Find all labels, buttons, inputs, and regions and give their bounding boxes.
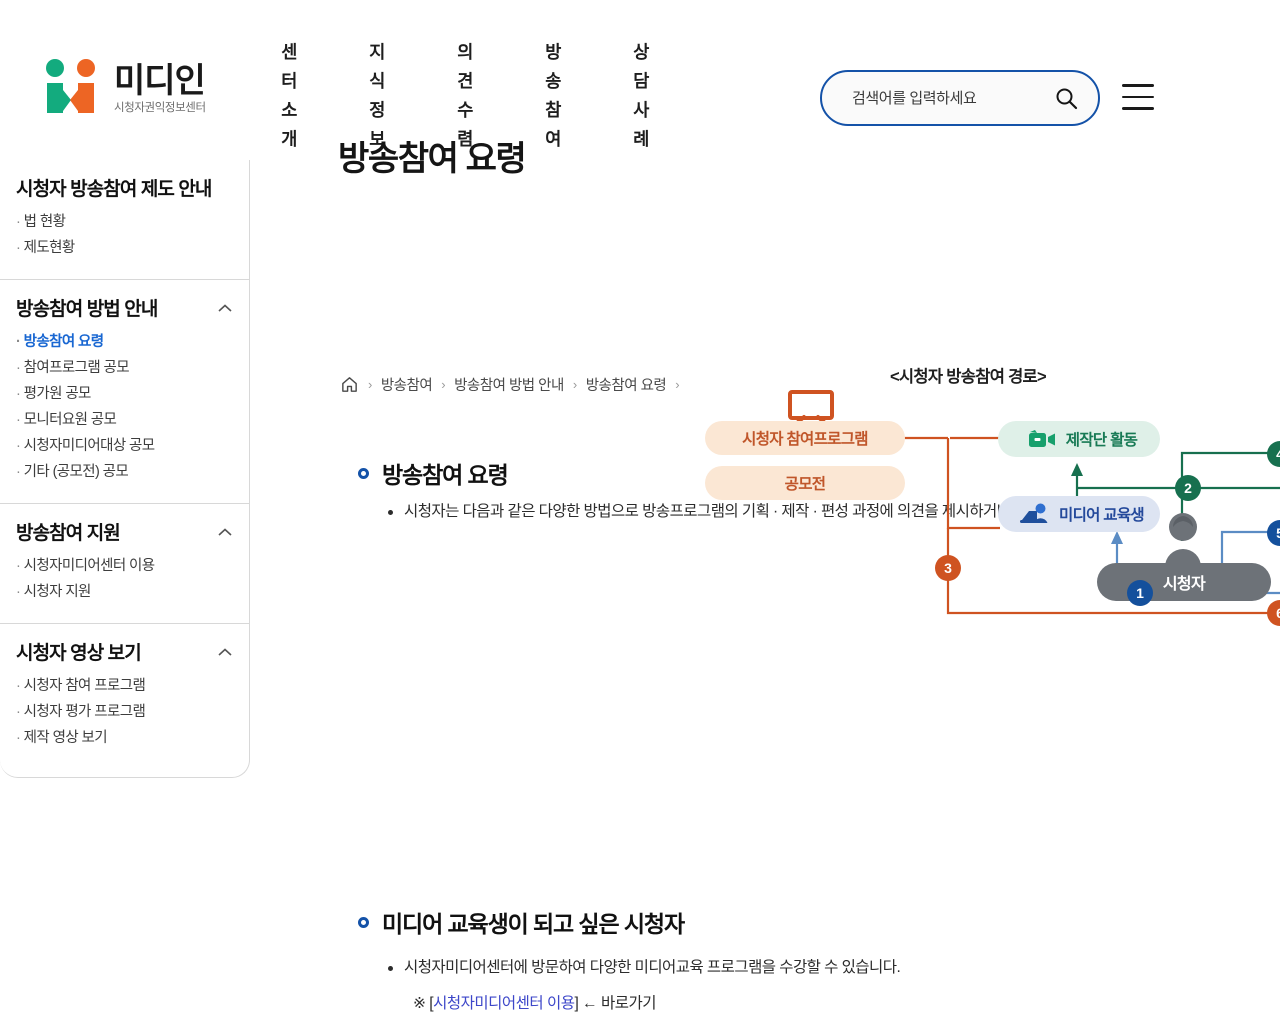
- diagram-node-label: 미디어 교육생: [1059, 503, 1144, 525]
- step-number: 6: [1276, 605, 1280, 621]
- ring-bullet-icon: [358, 917, 369, 928]
- diagram-node-label: 제작단 활동: [1066, 428, 1137, 450]
- nav-label-char: 정: [366, 96, 388, 125]
- sidebar-item-system-status[interactable]: 제도현황: [16, 235, 233, 261]
- bullet-dot-icon: [388, 966, 393, 971]
- nav-label-2: 의견수렴: [454, 38, 476, 154]
- step-number: 5: [1276, 525, 1280, 541]
- sidebar-item-other-contest[interactable]: 기타 (공모전) 공모: [16, 459, 233, 485]
- tv-monitor-icon: [787, 389, 835, 425]
- nav-label-char: 의: [454, 38, 476, 67]
- sidebar-section-method-guide: 방송참여 방법 안내 방송참여 요령 참여프로그램 공모 평가원 공모 모니터요…: [0, 280, 249, 504]
- diagram-node-label: 시청자: [1163, 570, 1205, 594]
- sidebar-item-program-contest[interactable]: 참여프로그램 공모: [16, 355, 233, 381]
- nav-label-4: 상담사례: [630, 38, 652, 154]
- main-content: 방송참여 요령 › 방송참여 › 방송참여 방법 안내 › 방송참여 요령 › …: [250, 160, 1280, 1024]
- section2-bullet-0: 시청자미디어센터에 방문하여 다양한 미디어교육 프로그램을 수강할 수 있습니…: [388, 956, 1248, 980]
- nav-item-consultation[interactable]: 상담사례: [630, 38, 652, 154]
- diagram-step-1: 1: [1127, 580, 1153, 606]
- person-icon: [1155, 511, 1211, 567]
- nav-label-char: 여: [542, 125, 564, 154]
- diagram-node-participation-program: 시청자 참여프로그램: [705, 421, 905, 455]
- laptop-person-icon: [1020, 502, 1050, 526]
- note-suffix-0: ] ← 바로가기: [575, 995, 656, 1012]
- sidebar-section-header[interactable]: 시청자 방송참여 제도 안내: [16, 174, 233, 201]
- sidebar-item-law-status[interactable]: 법 현황: [16, 209, 233, 235]
- sidebar-section-header[interactable]: 방송참여 지원: [16, 518, 233, 545]
- diagram-node-label: 공모전: [785, 472, 826, 494]
- section2-bullet-text-0: 시청자미디어센터에 방문하여 다양한 미디어교육 프로그램을 수강할 수 있습니…: [404, 956, 900, 980]
- sidebar-item-monitor-contest[interactable]: 모니터요원 공모: [16, 407, 233, 433]
- nav-label-char: 센: [278, 38, 300, 67]
- sidebar-item-media-center-use[interactable]: 시청자미디어센터 이용: [16, 553, 233, 579]
- page-title-container: 방송참여 요령: [338, 138, 525, 180]
- diagram-node-production-crew: 제작단 활동: [998, 421, 1160, 457]
- chevron-up-icon[interactable]: [217, 527, 233, 537]
- hamburger-menu-icon[interactable]: [1122, 84, 1154, 110]
- sidebar-item-participation-guide[interactable]: 방송참여 요령: [16, 329, 233, 355]
- participation-path-diagram: <시청자 방송참여 경로>: [360, 345, 1280, 635]
- search-icon[interactable]: [1054, 86, 1078, 110]
- site-header: 미디인 시청자권익정보센터 센터소개 지식정보 의견수렴 방송참여 상담사례: [0, 0, 1280, 160]
- main-navigation: 센터소개 지식정보 의견수렴 방송참여 상담사례: [278, 38, 652, 154]
- sidebar-item-viewer-participation-program[interactable]: 시청자 참여 프로그램: [16, 673, 233, 699]
- search-input[interactable]: [852, 90, 1054, 107]
- note-link-0[interactable]: 시청자미디어센터 이용: [433, 995, 574, 1012]
- sidebar: 시청자 방송참여 제도 안내 법 현황 제도현황 방송참여 방법 안내 방송참여…: [0, 160, 250, 778]
- logo-title: 미디인: [114, 64, 206, 98]
- nav-label-char: 견: [454, 67, 476, 96]
- step-number: 1: [1136, 585, 1144, 601]
- diagram-node-viewer: 시청자: [1097, 563, 1271, 601]
- sidebar-section-title-3: 시청자 영상 보기: [16, 638, 141, 665]
- section-title-2: 미디어 교육생이 되고 싶은 시청자: [382, 905, 684, 939]
- nav-label-char: 지: [366, 38, 388, 67]
- sidebar-item-viewer-evaluation-program[interactable]: 시청자 평가 프로그램: [16, 699, 233, 725]
- sidebar-item-production-video[interactable]: 제작 영상 보기: [16, 725, 233, 751]
- step-number: 3: [944, 560, 952, 576]
- nav-label-char: 소: [278, 96, 300, 125]
- home-icon[interactable]: [340, 375, 359, 394]
- sidebar-item-media-award-contest[interactable]: 시청자미디어대상 공모: [16, 433, 233, 459]
- diagram-node-contest: 공모전: [705, 466, 905, 500]
- sidebar-section-system-guide: 시청자 방송참여 제도 안내 법 현황 제도현황: [0, 160, 249, 280]
- nav-label-char: 담: [630, 67, 652, 96]
- diagram-step-3: 3: [935, 555, 961, 581]
- nav-item-center-intro[interactable]: 센터소개: [278, 38, 300, 154]
- video-camera-icon: [1027, 428, 1057, 450]
- sidebar-section-title-0: 시청자 방송참여 제도 안내: [16, 174, 212, 201]
- page-body: 시청자 방송참여 제도 안내 법 현황 제도현황 방송참여 방법 안내 방송참여…: [0, 160, 1280, 1024]
- sidebar-section-title-1: 방송참여 방법 안내: [16, 294, 157, 321]
- nav-label-char: 방: [542, 38, 564, 67]
- nav-item-opinion[interactable]: 의견수렴: [454, 38, 476, 154]
- nav-label-char: 참: [542, 96, 564, 125]
- sidebar-section-title-2: 방송참여 지원: [16, 518, 120, 545]
- search-box[interactable]: [820, 70, 1100, 126]
- sidebar-section-support: 방송참여 지원 시청자미디어센터 이용 시청자 지원: [0, 504, 249, 624]
- nav-label-char: 사: [630, 96, 652, 125]
- chevron-up-icon[interactable]: [217, 303, 233, 313]
- nav-label-3: 방송참여: [542, 38, 564, 154]
- nav-label-char: 상: [630, 38, 652, 67]
- sidebar-item-viewer-support[interactable]: 시청자 지원: [16, 579, 233, 605]
- handshake-people-logo-icon: [42, 56, 102, 114]
- nav-label-char: 송: [542, 67, 564, 96]
- nav-label-char: 례: [630, 125, 652, 154]
- nav-label-0: 센터소개: [278, 38, 300, 154]
- diagram-node-label: 시청자 참여프로그램: [742, 427, 868, 449]
- diagram-node-media-student: 미디어 교육생: [998, 496, 1160, 532]
- nav-label-char: 수: [454, 96, 476, 125]
- step-number: 2: [1184, 480, 1192, 496]
- nav-item-broadcast-participation[interactable]: 방송참여: [542, 38, 564, 154]
- nav-label-char: 개: [278, 125, 300, 154]
- sidebar-section-header[interactable]: 시청자 영상 보기: [16, 638, 233, 665]
- nav-label-char: 식: [366, 67, 388, 96]
- sidebar-item-evaluator-contest[interactable]: 평가원 공모: [16, 381, 233, 407]
- logo-subtitle: 시청자권익정보센터: [114, 103, 206, 115]
- nav-label-1: 지식정보: [366, 38, 388, 154]
- nav-item-knowledge[interactable]: 지식정보: [366, 38, 388, 154]
- nav-label-char: 터: [278, 67, 300, 96]
- chevron-up-icon[interactable]: [217, 647, 233, 657]
- note-prefix-0: ※ [: [413, 995, 433, 1012]
- section2-note-0: ※ [시청자미디어센터 이용] ← 바로가기: [413, 991, 656, 1013]
- page-title: 방송참여 요령: [338, 138, 525, 180]
- sidebar-section-videos: 시청자 영상 보기 시청자 참여 프로그램 시청자 평가 프로그램 제작 영상 …: [0, 624, 249, 777]
- sidebar-section-header[interactable]: 방송참여 방법 안내: [16, 294, 233, 321]
- site-logo[interactable]: 미디인 시청자권익정보센터: [42, 56, 206, 114]
- step-number: 4: [1276, 446, 1280, 462]
- section-heading-media-student: 미디어 교육생이 되고 싶은 시청자: [358, 905, 684, 939]
- diagram-step-2: 2: [1175, 475, 1201, 501]
